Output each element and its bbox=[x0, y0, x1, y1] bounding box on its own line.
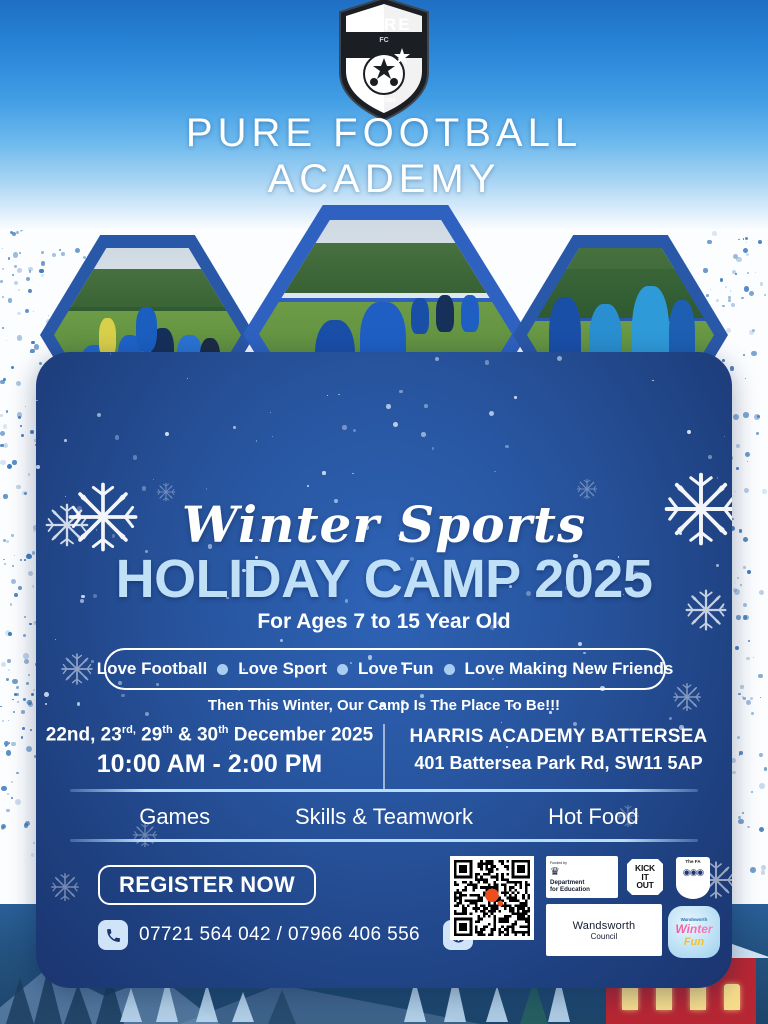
wandsworth-line-2: Council bbox=[591, 932, 618, 941]
snowflake-icon bbox=[60, 652, 94, 690]
venue-address: 401 Battersea Park Rd, SW11 5AP bbox=[385, 753, 732, 774]
snow-dot bbox=[342, 425, 346, 429]
camp-times: 10:00 AM - 2:00 PM bbox=[36, 750, 383, 779]
snow-dot bbox=[687, 430, 692, 435]
partner-logos: Funded by ♛ Department for Education KIC… bbox=[450, 854, 712, 960]
separator-dot-icon bbox=[217, 664, 228, 675]
snow-dot bbox=[421, 432, 425, 436]
snow-dot bbox=[272, 436, 273, 437]
snow-dot bbox=[338, 394, 339, 395]
dates-prefix: 22nd, 23 bbox=[46, 724, 122, 745]
svg-text:EST 2009: EST 2009 bbox=[373, 98, 395, 104]
snow-dot bbox=[424, 404, 428, 408]
camp-dates: 22nd, 23rd, 29th & 30th December 2025 bbox=[36, 720, 383, 746]
snow-dot bbox=[489, 411, 494, 416]
dates-sup-2: th bbox=[162, 724, 172, 736]
dates-column: 22nd, 23rd, 29th & 30th December 2025 10… bbox=[36, 720, 383, 798]
pine-tree bbox=[64, 984, 92, 1024]
three-lions-icon: ◉◉◉ bbox=[683, 867, 704, 878]
dfe-name-line-2: for Education bbox=[550, 886, 590, 893]
brand-name: PURE FOOTBALL ACADEMY bbox=[0, 112, 768, 204]
winter-fun-logo: Wandsworth Winter Fun bbox=[668, 906, 720, 958]
register-now-button[interactable]: REGISTER NOW bbox=[98, 865, 316, 905]
separator-dot-icon bbox=[337, 664, 348, 675]
separator-dot-icon bbox=[444, 664, 455, 675]
activity-games: Games bbox=[70, 804, 279, 830]
venue-column: HARRIS ACADEMY BATTERSEA 401 Battersea P… bbox=[385, 720, 732, 798]
snow-dot bbox=[353, 429, 356, 432]
contact-row: 07721 564 042 / 07966 406 556 bbox=[98, 920, 473, 950]
snow-dot bbox=[352, 473, 354, 475]
info-row: 22nd, 23rd, 29th & 30th December 2025 10… bbox=[36, 720, 732, 798]
pine-tree bbox=[268, 990, 296, 1024]
snow-dot bbox=[399, 390, 402, 393]
dates-mid-2: & 30 bbox=[173, 724, 218, 745]
feature-love-friends: Love Making New Friends bbox=[465, 659, 674, 679]
snow-dot bbox=[270, 412, 271, 413]
snow-dot bbox=[708, 455, 712, 459]
snow-dot bbox=[435, 357, 439, 361]
dfe-funded-label: Funded by bbox=[550, 861, 567, 865]
snow-covered-tree bbox=[486, 986, 508, 1022]
venue-name: HARRIS ACADEMY BATTERSEA bbox=[385, 720, 732, 748]
snow-dot bbox=[307, 485, 308, 486]
dfe-name-line-1: Department bbox=[550, 879, 584, 886]
kick-it-out-logo: KICK IT OUT bbox=[626, 858, 664, 896]
dates-suffix: December 2025 bbox=[229, 724, 374, 745]
snow-dot bbox=[485, 360, 490, 365]
snow-covered-tree bbox=[120, 988, 142, 1022]
winterfun-line-1: Winter bbox=[675, 922, 712, 936]
snow-dot bbox=[393, 422, 398, 427]
age-range-label: For Ages 7 to 15 Year Old bbox=[36, 610, 732, 634]
dates-sup-1: rd, bbox=[122, 724, 136, 736]
snow-dot bbox=[233, 426, 236, 429]
activity-food: Hot Food bbox=[489, 804, 698, 830]
snow-dot bbox=[652, 380, 654, 382]
snow-dot bbox=[505, 445, 509, 449]
snow-dot bbox=[327, 395, 328, 396]
snow-covered-tree bbox=[232, 992, 254, 1022]
dates-mid: 29 bbox=[136, 724, 162, 745]
snow-dot bbox=[97, 413, 101, 417]
fa-caption: The FA bbox=[685, 859, 700, 864]
divider-rule-bottom bbox=[70, 839, 698, 842]
snow-dot bbox=[717, 477, 718, 478]
snow-dot bbox=[280, 639, 283, 642]
tagline: Then This Winter, Our Camp Is The Place … bbox=[36, 697, 732, 714]
snow-dot bbox=[165, 432, 169, 436]
snow-dot bbox=[322, 471, 325, 474]
divider-rule-top bbox=[70, 789, 698, 792]
snow-dot bbox=[206, 488, 208, 490]
svg-text:PURE: PURE bbox=[356, 15, 411, 34]
features-pill: Love Football Love Sport Love Fun Love M… bbox=[104, 648, 666, 690]
snowflake-icon bbox=[50, 872, 80, 906]
snow-dot bbox=[153, 479, 154, 480]
qr-code[interactable] bbox=[450, 856, 534, 940]
snow-dot bbox=[36, 465, 39, 468]
activities-row: Games Skills & Teamwork Hot Food bbox=[70, 795, 698, 839]
wandsworth-line-1: Wandsworth bbox=[573, 920, 636, 932]
pine-tree bbox=[6, 978, 34, 1024]
snow-dot bbox=[64, 439, 67, 442]
activity-skills: Skills & Teamwork bbox=[279, 804, 488, 830]
feature-love-football: Love Football bbox=[97, 659, 208, 679]
snow-dot bbox=[133, 455, 138, 460]
snow-dot bbox=[187, 378, 188, 379]
snow-dot bbox=[557, 356, 562, 361]
dates-sup-3: th bbox=[218, 724, 228, 736]
snow-dot bbox=[386, 404, 390, 408]
svg-text:FC: FC bbox=[379, 37, 388, 44]
snow-dot bbox=[44, 692, 49, 697]
snow-dot bbox=[514, 396, 516, 398]
snow-dot bbox=[578, 642, 582, 646]
feature-love-sport: Love Sport bbox=[238, 659, 327, 679]
snow-dot bbox=[494, 471, 496, 473]
snow-dot bbox=[55, 639, 57, 641]
headline-title: HOLIDAY CAMP 2025 bbox=[36, 548, 732, 610]
brand-line-1: PURE FOOTBALL bbox=[0, 112, 768, 154]
kio-line-3: OUT bbox=[636, 881, 653, 890]
the-fa-logo: The FA ◉◉◉ bbox=[674, 856, 712, 900]
snow-dot bbox=[142, 486, 147, 491]
kick-it-out-mark: KICK IT OUT bbox=[627, 859, 663, 895]
snow-dot bbox=[724, 436, 725, 437]
brand-line-2: ACADEMY bbox=[0, 154, 768, 204]
snow-dot bbox=[432, 447, 435, 450]
wandsworth-council-logo: Wandsworth Council bbox=[546, 904, 662, 956]
pure-fc-crest-logo: PURE FC EST 2009 bbox=[324, 0, 444, 124]
script-title: Winter Sports bbox=[36, 495, 732, 554]
snow-dot bbox=[36, 400, 37, 401]
department-for-education-logo: Funded by ♛ Department for Education bbox=[546, 856, 618, 898]
fa-badge-shape: The FA ◉◉◉ bbox=[676, 857, 710, 899]
phone-number[interactable]: 07721 564 042 / 07966 406 556 bbox=[139, 924, 420, 946]
snow-dot bbox=[110, 353, 111, 354]
snow-covered-tree bbox=[196, 984, 218, 1022]
winterfun-line-2: Fun bbox=[684, 936, 704, 948]
snow-dot bbox=[115, 435, 120, 440]
feature-love-fun: Love Fun bbox=[358, 659, 434, 679]
crown-icon: ♛ bbox=[550, 867, 560, 878]
snow-dot bbox=[256, 440, 257, 441]
poster-root: PURE FC EST 2009 PURE FOOTBALL ACADEMY bbox=[0, 0, 768, 1024]
main-info-card: Winter Sports HOLIDAY CAMP 2025 For Ages… bbox=[36, 352, 732, 988]
phone-icon[interactable] bbox=[98, 920, 128, 950]
